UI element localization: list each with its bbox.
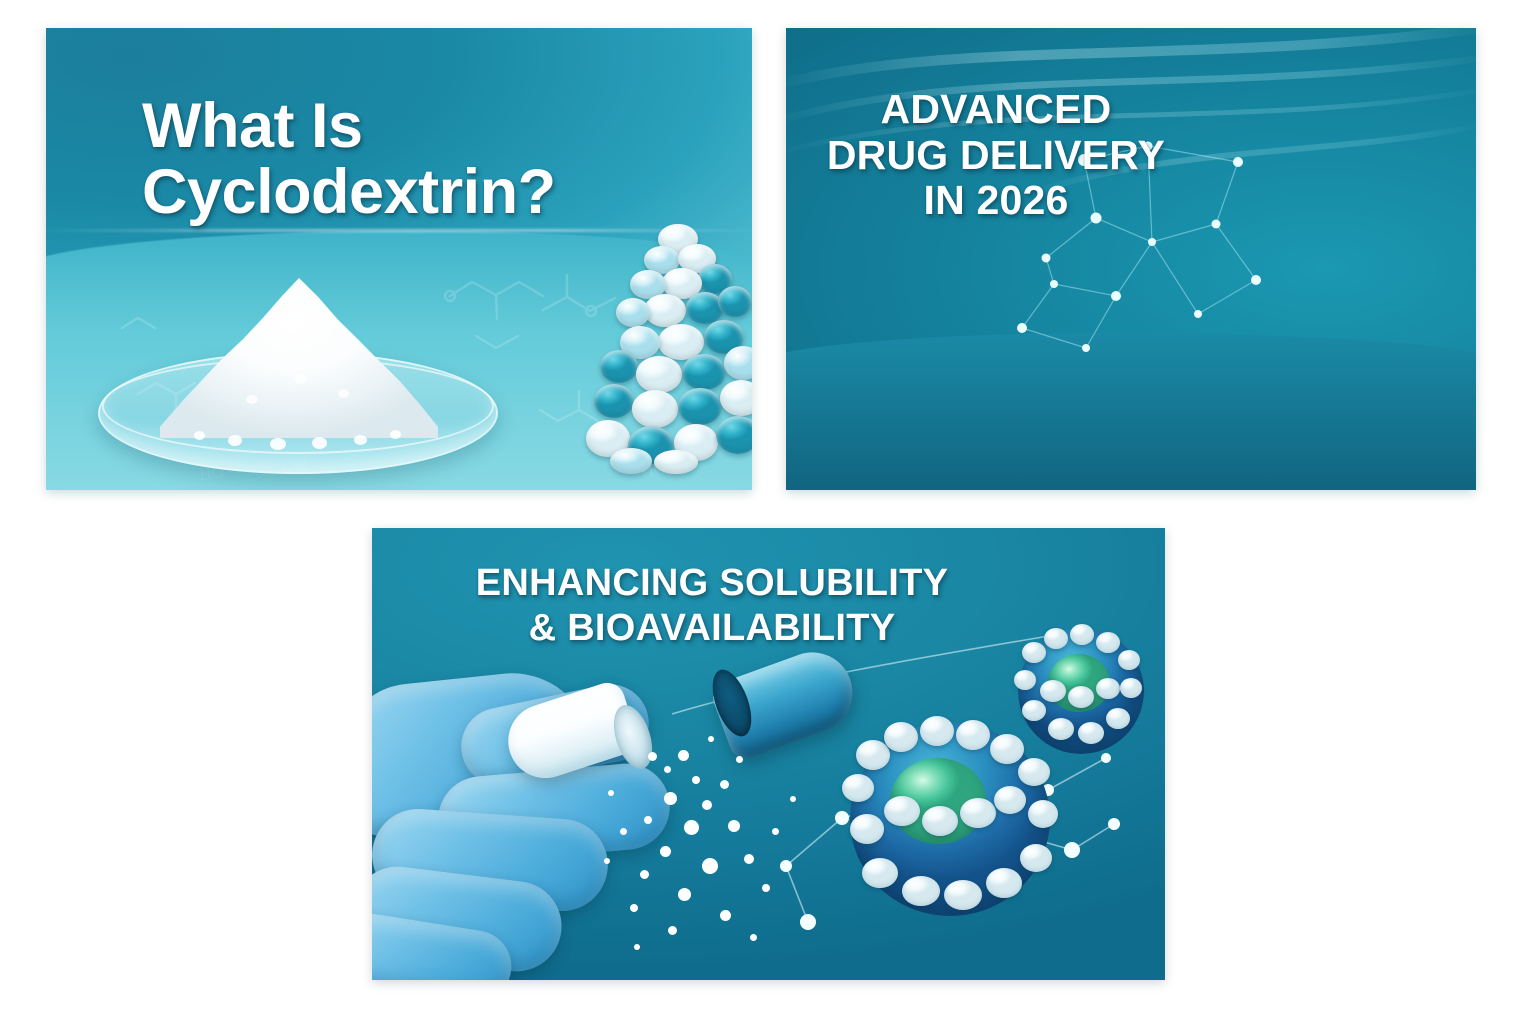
panel-what-is-cyclodextrin[interactable]: HO OH OH HO — [46, 28, 752, 490]
powder-grain — [194, 431, 205, 440]
powder-mound — [160, 278, 438, 438]
title-line: Cyclodextrin? — [142, 160, 556, 226]
title-line: IN 2026 — [786, 179, 1206, 222]
powder-grain — [312, 437, 327, 449]
panel-3-title: ENHANCING SOLUBILITY & BIOAVAILABILITY — [372, 564, 1052, 653]
pill-pyramid — [586, 224, 752, 474]
powder-grain — [270, 438, 286, 450]
powder-grain — [228, 435, 242, 446]
panel-1-title: What Is Cyclodextrin? — [142, 94, 556, 225]
powder-grain — [338, 389, 349, 398]
panel-advanced-drug-delivery[interactable]: ADVANCED DRUG DELIVERY IN 2026 — [786, 28, 1476, 490]
title-line: DRUG DELIVERY — [786, 134, 1206, 177]
title-line: ADVANCED — [786, 88, 1206, 131]
powder-grain — [390, 430, 401, 439]
petri-dish-group — [98, 280, 498, 480]
powder-grain — [294, 374, 307, 384]
title-line: What Is — [142, 94, 556, 160]
powder-grain — [354, 435, 367, 445]
powder-grain — [246, 395, 258, 404]
panel-enhancing-solubility[interactable]: ENHANCING SOLUBILITY & BIOAVAILABILITY — [372, 528, 1165, 980]
title-line: ENHANCING SOLUBILITY — [372, 564, 1052, 604]
panel-2-title: ADVANCED DRUG DELIVERY IN 2026 — [786, 88, 1206, 225]
infographic-stage: HO OH OH HO — [0, 0, 1536, 1024]
title-line: & BIOAVAILABILITY — [372, 609, 1052, 649]
